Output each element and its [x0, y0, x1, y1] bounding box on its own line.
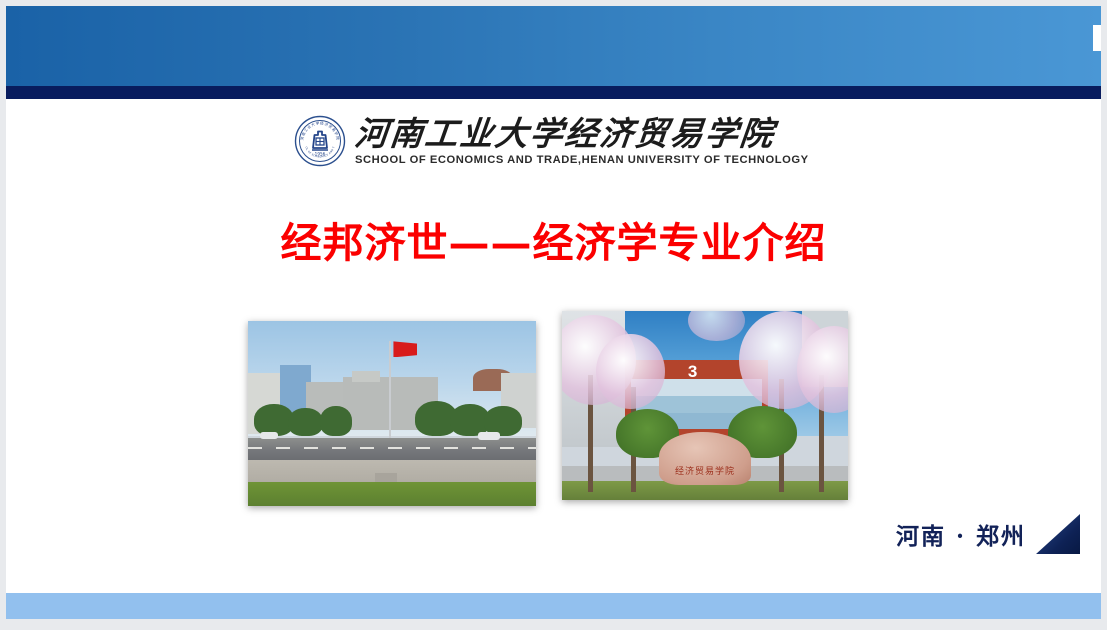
- grass-lawn: [248, 482, 536, 506]
- campus-square-photo: [248, 321, 536, 506]
- car: [260, 432, 278, 439]
- header-corner-notch: [1093, 25, 1101, 51]
- national-flag-icon: [393, 341, 417, 357]
- header-navy-divider-bar: [6, 86, 1101, 99]
- campus-square-photo-scene: [248, 321, 536, 506]
- institution-wordmark: 河南工业大学经济贸易学院 SCHOOL OF ECONOMICS AND TRA…: [355, 117, 809, 166]
- building-number-label: 3: [688, 362, 697, 382]
- presentation-slide-root: 1956 河南工业大学经济贸易学院 SCHOOL OF ECONOMICS AN…: [0, 0, 1107, 630]
- header-gradient-band: [6, 6, 1101, 86]
- footer-band: [6, 593, 1101, 619]
- road-lane-markings: [248, 447, 536, 449]
- engraved-stone-text: 经济贸易学院: [675, 464, 735, 477]
- slide-body: 1956 河南工业大学经济贸易学院 SCHOOL OF ECONOMICS AN…: [6, 99, 1101, 593]
- university-seal-icon: 1956 河南工业大学经济贸易学院 SCHOOL OF ECONOMICS AN…: [294, 115, 346, 167]
- cherry-blossom-canopy: [596, 334, 665, 410]
- institution-name-cn: 河南工业大学经济贸易学院: [353, 117, 810, 150]
- car: [478, 432, 500, 440]
- slide-main-title: 经邦济世——经济学专业介绍: [6, 209, 1101, 269]
- flagpole: [389, 341, 391, 439]
- institution-logo-lockup: 1956 河南工业大学经济贸易学院 SCHOOL OF ECONOMICS AN…: [294, 115, 809, 167]
- corner-triangle-decoration: [1036, 514, 1080, 554]
- tree: [320, 406, 352, 436]
- institution-name-en: SCHOOL OF ECONOMICS AND TRADE,HENAN UNIV…: [355, 154, 809, 166]
- school-building-photo-scene: 3 经济贸易学院: [562, 311, 848, 500]
- location-caption-block: 河南 · 郑州: [896, 514, 1080, 554]
- building-center-top: [352, 371, 381, 382]
- slide-canvas: 1956 河南工业大学经济贸易学院 SCHOOL OF ECONOMICS AN…: [6, 6, 1101, 619]
- tree: [288, 408, 323, 436]
- engraved-stone: 经济贸易学院: [659, 432, 751, 485]
- location-label: 河南 · 郑州: [896, 517, 1026, 551]
- school-building-photo: 3 经济贸易学院: [562, 311, 848, 500]
